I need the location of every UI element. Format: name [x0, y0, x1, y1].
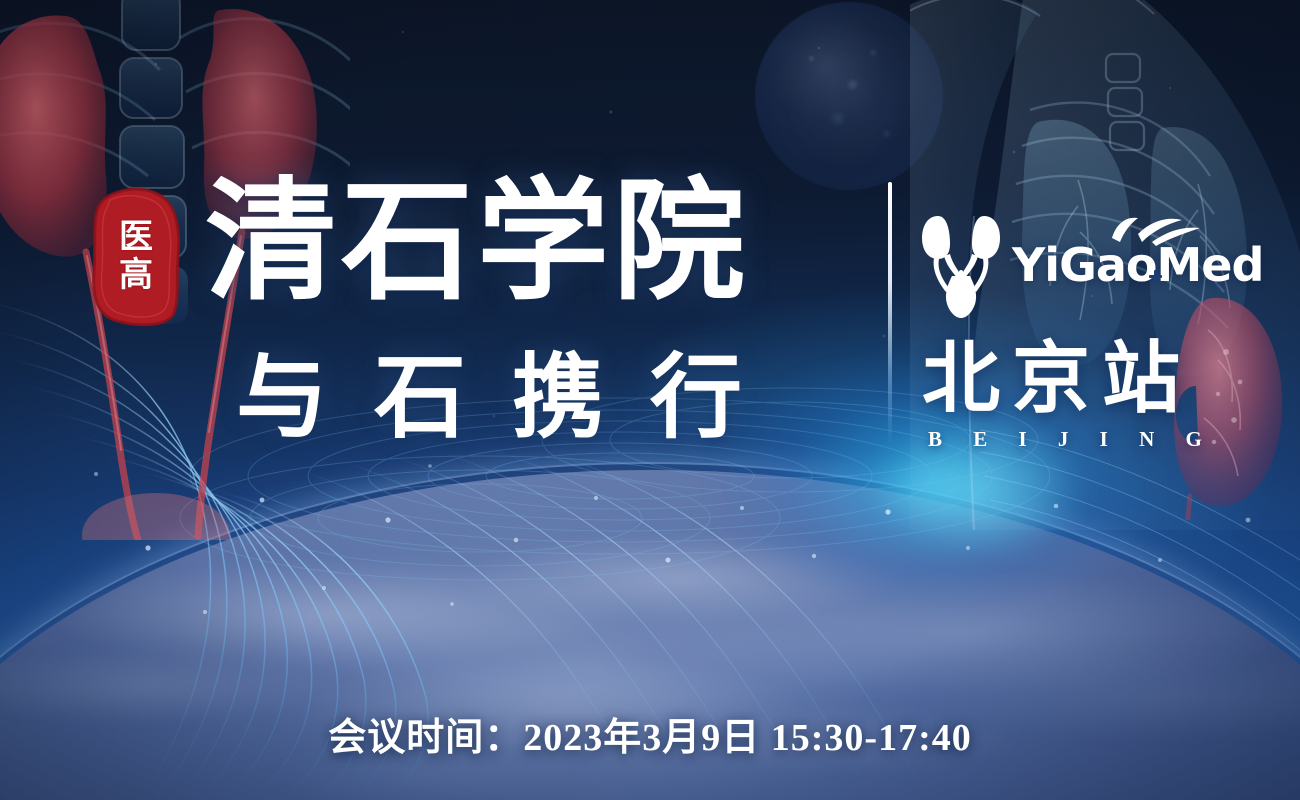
brand-name-text: YiGaoMed: [1012, 238, 1263, 292]
city-name-en: B E I J I N G: [922, 427, 1192, 452]
meeting-time: 会议时间：2023年3月9日 15:30-17:40: [0, 706, 1300, 761]
conference-poster: 医 高 清石学院 与石携行: [0, 0, 1300, 800]
medical-seal-stamp: 医 高: [88, 186, 184, 328]
brand-lockup: YiGaoMed: [922, 212, 1263, 318]
medical-cross-icon: [1148, 269, 1163, 284]
seal-characters: 医 高: [88, 186, 184, 328]
page-subtitle: 与石携行: [236, 352, 788, 444]
poster-content: 医 高 清石学院 与石携行: [0, 0, 1300, 800]
city-name-cn: 北京站: [922, 340, 1192, 418]
page-title: 清石学院: [205, 176, 749, 308]
seal-char-top: 医: [119, 221, 153, 255]
city-block: 北京站 B E I J I N G: [922, 340, 1192, 452]
swoosh-accent-icon: [1108, 212, 1200, 246]
brand-name: YiGaoMed: [1012, 238, 1263, 292]
vertical-divider: [888, 182, 892, 444]
kidney-logo-icon: [922, 212, 1000, 318]
seal-char-bottom: 高: [119, 259, 153, 293]
